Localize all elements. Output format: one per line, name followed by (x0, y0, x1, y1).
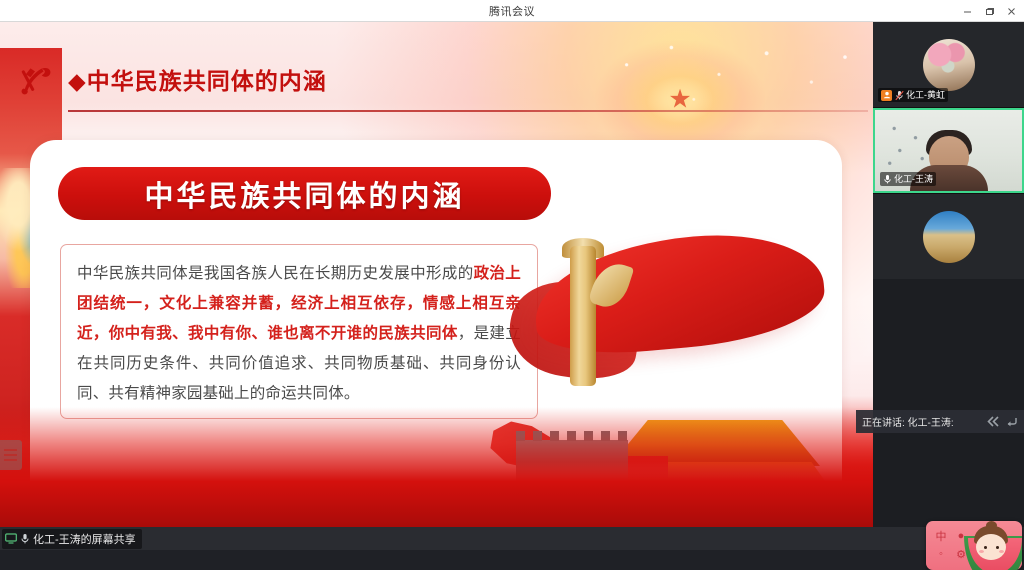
paragraph-part-1: 中华民族共同体是我国各族人民在长期历史发展中形成的 (77, 265, 474, 282)
mascot-cheek-left (979, 550, 984, 553)
maximize-button[interactable] (978, 0, 1000, 22)
slide-banner-text: 中华民族共同体的内涵 (144, 173, 464, 215)
avatar (923, 211, 975, 263)
ime-key-chinese[interactable]: 中 (936, 528, 947, 544)
input-method-floating-bar[interactable]: 中 ● ◦ ⚙ (926, 521, 1022, 570)
mic-active-icon (883, 174, 892, 185)
chevron-left-double-icon (987, 416, 1003, 427)
window-title: 腾讯会议 (489, 3, 535, 19)
active-speaker-text: 正在讲话: 化工-王涛: (862, 414, 954, 429)
chip-line (4, 454, 17, 456)
slide-menu-chip[interactable] (0, 440, 22, 470)
mascot-eye-right (996, 546, 999, 549)
party-emblem-icon (18, 60, 56, 98)
close-button[interactable] (1000, 0, 1022, 22)
video-tile-participant-1[interactable]: 化工-黄虹 (873, 22, 1024, 107)
participant-name-chip-2: 化工-王涛 (880, 172, 936, 186)
screen-share-text: 化工-王涛的屏幕共享 (33, 531, 136, 547)
slide-paragraph-box: 中华民族共同体是我国各族人民在长期历史发展中形成的政治上团结统一，文化上兼容并蓄… (60, 244, 538, 419)
return-arrow-icon (1006, 416, 1018, 427)
screen-share-notice: 化工-王涛的屏幕共享 (2, 529, 142, 549)
meeting-window-body: ★ ◆中华民族共同体的内涵 中华民族共同体的内涵 (0, 22, 1024, 550)
slide-header-title: ◆中华民族共同体的内涵 (68, 62, 327, 96)
mic-muted-icon (895, 90, 904, 101)
shared-screen-region[interactable]: ★ ◆中华民族共同体的内涵 中华民族共同体的内涵 (0, 22, 873, 527)
slide-header-divider (68, 110, 868, 112)
video-tile-participant-2[interactable]: 化工-王涛 (873, 108, 1024, 193)
participant-name-2: 化工-王涛 (894, 173, 933, 185)
huabiao-column (570, 246, 596, 386)
window-titlebar: 腾讯会议 (0, 0, 1024, 22)
panel-collapse-icons[interactable] (987, 416, 1018, 427)
mascot-eye-left (984, 546, 987, 549)
participant-name-chip-1: 化工-黄虹 (878, 88, 948, 102)
host-badge-icon (881, 90, 892, 101)
participant-video-panel[interactable]: 化工-黄虹 化工-王涛 (873, 22, 1024, 527)
chip-line (4, 449, 17, 451)
monitor-icon (5, 533, 17, 544)
minimize-button[interactable] (956, 0, 978, 22)
mascot-girl-icon (972, 522, 1012, 562)
presentation-slide: ★ ◆中华民族共同体的内涵 中华民族共同体的内涵 (0, 22, 873, 527)
active-speaker-indicator: 正在讲话: 化工-王涛: (856, 410, 1024, 433)
window-controls (956, 0, 1022, 22)
chip-line (4, 459, 17, 461)
slide-banner: 中华民族共同体的内涵 (58, 167, 551, 220)
video-tile-participant-3[interactable] (873, 194, 1024, 279)
status-bar: 化工-王涛的屏幕共享 (0, 527, 1024, 550)
slide-paragraph: 中华民族共同体是我国各族人民在长期历史发展中形成的政治上团结统一，文化上兼容并蓄… (77, 259, 521, 409)
slide-decoration-bottom (0, 407, 873, 527)
avatar-image-flowers (923, 39, 975, 91)
slide-header: ◆中华民族共同体的内涵 (14, 56, 854, 116)
mascot-cheek-right (999, 550, 1004, 553)
mascot-face (976, 534, 1006, 560)
mic-icon (20, 533, 30, 545)
participant-name-1: 化工-黄虹 (906, 89, 945, 101)
avatar-image-desert (923, 211, 975, 263)
avatar (923, 39, 975, 91)
